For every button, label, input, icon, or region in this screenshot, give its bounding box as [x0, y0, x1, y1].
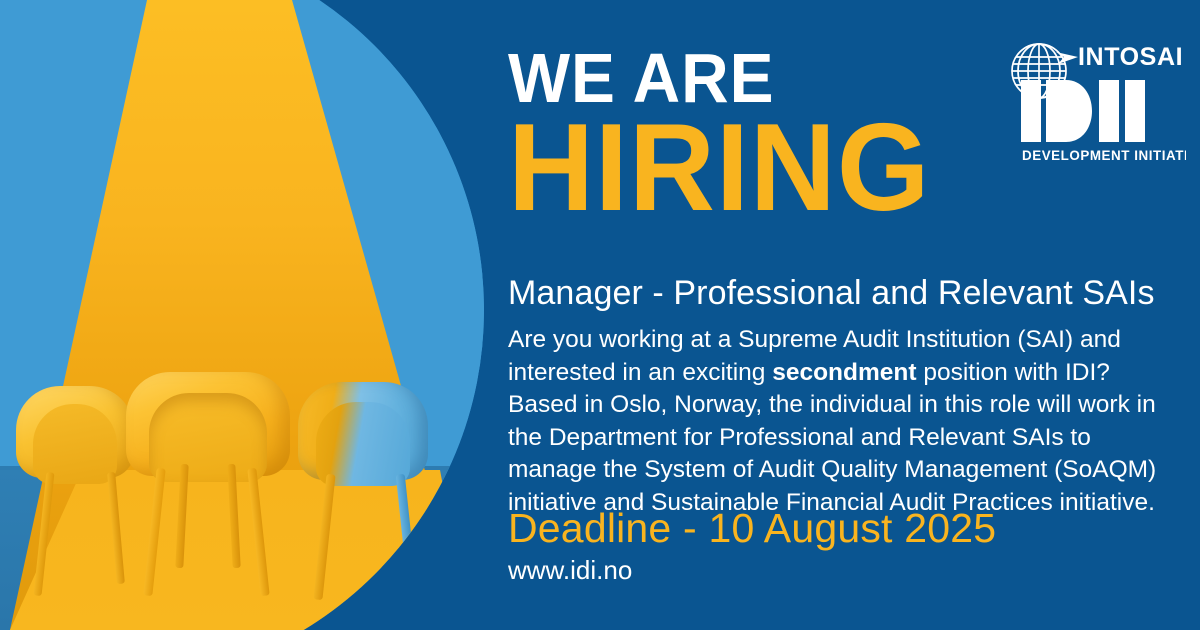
website-url[interactable]: www.idi.no: [508, 553, 908, 587]
headline-block: WE ARE HIRING: [508, 48, 1068, 220]
job-title: Manager - Professional and Relevant SAIs: [508, 272, 1188, 314]
hiring-banner: WE ARE HIRING Manager - Professional and…: [0, 0, 1200, 630]
deadline-text: Deadline - 10 August 2025: [508, 503, 1188, 553]
headline-line-2: HIRING: [508, 116, 1046, 220]
logo-acronym: [1021, 80, 1145, 142]
job-description-emphasis: secondment: [772, 359, 916, 386]
logo-artwork: INTOSAI DEVELOPMENT INITIATIVE: [1004, 38, 1186, 178]
intosai-idi-logo: INTOSAI DEVELOPMENT INITIATIVE: [1004, 38, 1186, 178]
logo-tagline: DEVELOPMENT INITIATIVE: [1022, 148, 1186, 163]
logo-organisation: INTOSAI: [1078, 43, 1183, 71]
content-panel: WE ARE HIRING Manager - Professional and…: [0, 0, 1200, 630]
job-description: Are you working at a Supreme Audit Insti…: [508, 324, 1180, 520]
